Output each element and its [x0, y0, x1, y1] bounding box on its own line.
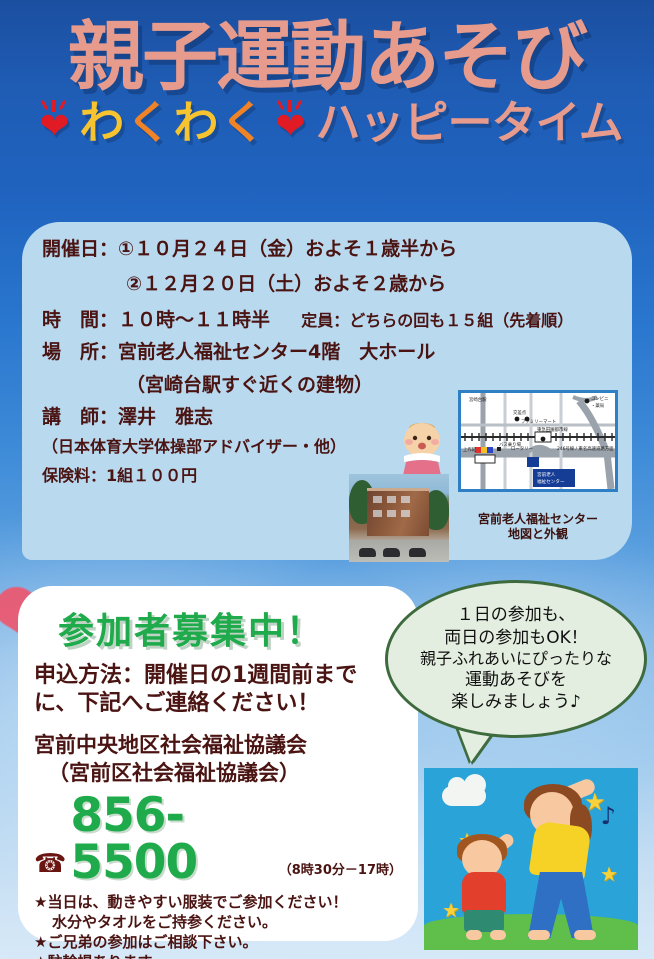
child-shorts [464, 910, 504, 932]
svg-text:福祉センター: 福祉センター [537, 478, 565, 485]
telephone-row[interactable]: ☎ 856-5500 （8時30分－17時） [34, 792, 402, 886]
telephone-number[interactable]: 856-5500 [70, 792, 268, 886]
apply-line-2: に、下記へご連絡ください！ [34, 690, 402, 718]
bubble-line: 親子ふれあいにぴったりな [420, 649, 612, 670]
apply-line-1: 申込方法：開催日の1週間前まで [34, 662, 402, 690]
subtitle-wa-2: わ [173, 100, 218, 145]
subtitle-row: ❤ わ く わ く ❤ ハッピータイム [0, 100, 654, 146]
time-value: １０時～１１時半 [118, 309, 270, 331]
subtitle-ku-2: く [220, 100, 265, 145]
map-caption: 宮前老人福祉センター 地図と外観 [456, 512, 620, 542]
capacity-label: 定員： [301, 311, 349, 330]
cloud-icon [442, 786, 486, 806]
child-shirt [462, 872, 506, 914]
music-note-icon: ♪ [601, 802, 616, 830]
map-caption-line-2: 地図と外観 [456, 527, 620, 542]
event-details-panel: 開催日：①１０月２４日（金）およそ１歳半から ②１２月２０日（土）およそ２歳から… [22, 222, 632, 560]
note-item: 水分やタオルをご持参ください。 [34, 912, 402, 932]
organization-block: 宮前中央地区社会福祉協議会 （宮前区社会福祉協議会） [34, 732, 402, 787]
heart-icon-left: ❤ [31, 100, 77, 146]
subtitle-happy-time: ハッピータイム [315, 100, 622, 145]
capacity-value: どちらの回も１５組（先着順） [349, 311, 573, 330]
svg-text:コンビニ: コンビニ [591, 395, 609, 402]
page-title: 親子運動あそび [0, 18, 654, 96]
place-value: 宮前老人福祉センター4階 大ホール [118, 341, 435, 363]
mother-foot-left [528, 930, 550, 940]
svg-text:バス乗り場: バス乗り場 [499, 441, 522, 448]
apply-method: 申込方法：開催日の1週間前まで に、下記へご連絡ください！ [34, 662, 402, 718]
svg-text:東急田園都市線: 東急田園都市線 [537, 426, 568, 433]
child-foot-left [466, 930, 482, 940]
event-place-row: 場 所：宮前老人福祉センター4階 大ホール [42, 341, 614, 363]
heart-icon-right: ❤ [267, 100, 313, 146]
lecturer-value: 澤井 雅志 [118, 406, 213, 428]
place-label: 場 所： [42, 341, 118, 363]
lecturer-label: 講 師： [42, 406, 118, 428]
subtitle-wa-1: わ [79, 100, 124, 145]
bubble-line: 運動あそびを [465, 669, 567, 691]
recruit-headline: 参加者募集中！ [58, 602, 402, 654]
application-panel: 参加者募集中！ 申込方法：開催日の1週間前まで に、下記へご連絡ください！ 宮前… [18, 586, 418, 941]
map-caption-line-1: 宮前老人福祉センター [456, 512, 620, 527]
star-icon: ★ [442, 900, 460, 920]
event-date-line-2: ②１２月２０日（土）およそ２歳から [42, 273, 614, 295]
svg-text:ファミリーマート: ファミリーマート [521, 419, 556, 425]
note-item: ★ご兄弟の参加はご相談下さい。 [34, 932, 402, 952]
bubble-line: 楽しみましょう♪ [451, 691, 581, 713]
bubble-line: １日の参加も、 [457, 604, 576, 626]
svg-text:上作延: 上作延 [463, 446, 477, 453]
org-name: 宮前中央地区社会福祉協議会 [34, 732, 402, 759]
svg-text:・薬局: ・薬局 [591, 402, 604, 409]
telephone-icon: ☎ [34, 851, 66, 886]
poster-root: 親子運動あそび ❤ わ く わ く ❤ ハッピータイム 開催日：①１０月２４日（… [0, 0, 654, 959]
center-building-photo [349, 474, 449, 562]
bubble-line: 両日の参加もOK！ [444, 627, 588, 649]
location-map: 宮前老人 福祉センター 宮崎台駅 交差点 ファミリーマート 上作延 ロータリー … [458, 390, 618, 492]
event-date-line-1: 開催日：①１０月２４日（金）およそ１歳半から [42, 238, 614, 260]
svg-text:交差点: 交差点 [513, 409, 527, 416]
poster-title-block: 親子運動あそび ❤ わ く わ く ❤ ハッピータイム [0, 18, 654, 146]
event-time-row: 時 間：１０時～１１時半 定員：どちらの回も１５組（先着順） [42, 309, 614, 331]
telephone-hours: （8時30分－17時） [273, 859, 402, 886]
time-label: 時 間： [42, 309, 118, 331]
note-item: ★駐輪場あります。 [34, 952, 402, 959]
speech-bubble: １日の参加も、 両日の参加もOK！ 親子ふれあいにぴったりな 運動あそびを 楽し… [385, 580, 647, 738]
note-item: ★当日は、動きやすい服装でご参加ください！ [34, 892, 402, 912]
notes-list: ★当日は、動きやすい服装でご参加ください！ 水分やタオルをご持参ください。 ★ご… [34, 892, 402, 959]
org-sub-name: （宮前区社会福祉協議会） [34, 760, 402, 787]
exercise-illustration: ★ ★ ★ ★ ♪ [424, 768, 638, 950]
star-icon: ★ [600, 864, 618, 884]
svg-text:宮前老人: 宮前老人 [537, 471, 556, 478]
mother-foot-right [574, 930, 596, 940]
map-graphic: 宮前老人 福祉センター 宮崎台駅 交差点 ファミリーマート 上作延 ロータリー … [461, 393, 615, 489]
subtitle-ku-1: く [126, 100, 171, 145]
svg-text:246号線 / 東名高速道路方面: 246号線 / 東名高速道路方面 [557, 445, 614, 452]
svg-text:宮崎台駅: 宮崎台駅 [469, 396, 487, 403]
child-foot-right [490, 930, 506, 940]
